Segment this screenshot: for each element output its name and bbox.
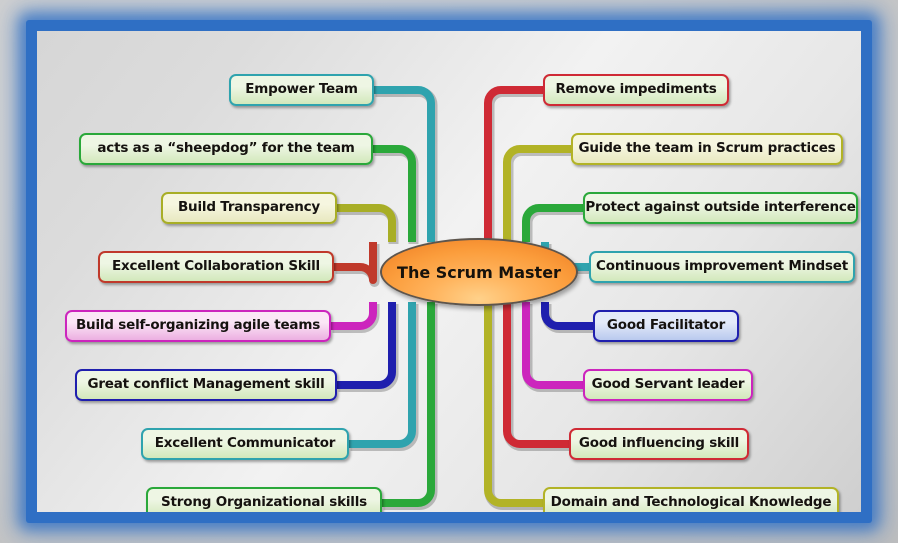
node-label: Excellent Collaboration Skill xyxy=(112,260,320,274)
node-label: Continuous improvement Mindset xyxy=(596,260,848,274)
connector-right-0 xyxy=(488,90,543,242)
node-label: Strong Organizational skills xyxy=(161,496,367,510)
node-label: acts as a “sheepdog” for the team xyxy=(97,142,354,156)
connector-shadow-right-7 xyxy=(490,304,545,505)
connector-shadow-right-2 xyxy=(528,210,585,244)
connector-right-5 xyxy=(526,302,583,385)
connector-left-4 xyxy=(331,302,373,326)
center-node-label: The Scrum Master xyxy=(397,263,561,282)
connector-shadow-right-1 xyxy=(509,151,573,244)
connector-shadow-right-0 xyxy=(490,92,545,244)
connector-right-7 xyxy=(488,302,543,503)
node-label: Guide the team in Scrum practices xyxy=(578,142,835,156)
connector-left-0 xyxy=(374,90,431,242)
node-right-1[interactable]: Guide the team in Scrum practices xyxy=(571,133,843,165)
node-right-0[interactable]: Remove impediments xyxy=(543,74,729,106)
node-right-3[interactable]: Continuous improvement Mindset xyxy=(589,251,855,283)
node-left-5[interactable]: Great conflict Management skill xyxy=(75,369,337,401)
node-right-4[interactable]: Good Facilitator xyxy=(593,310,739,342)
node-label: Build Transparency xyxy=(178,201,320,215)
mindmap-canvas: Empower Teamacts as a “sheepdog” for the… xyxy=(37,31,861,512)
node-label: Protect against outside interference xyxy=(585,201,855,215)
node-right-6[interactable]: Good influencing skill xyxy=(569,428,749,460)
node-right-2[interactable]: Protect against outside interference xyxy=(583,192,858,224)
node-label: Domain and Technological Knowledge xyxy=(551,496,832,510)
node-left-6[interactable]: Excellent Communicator xyxy=(141,428,349,460)
node-left-4[interactable]: Build self-organizing agile teams xyxy=(65,310,331,342)
connector-right-1 xyxy=(507,149,571,242)
node-label: Excellent Communicator xyxy=(155,437,336,451)
connector-shadow-left-0 xyxy=(376,92,433,244)
node-left-7[interactable]: Strong Organizational skills xyxy=(146,487,382,512)
center-node-scrum-master[interactable]: The Scrum Master xyxy=(380,238,578,306)
node-label: Build self-organizing agile teams xyxy=(76,319,320,333)
node-label: Great conflict Management skill xyxy=(87,378,324,392)
node-label: Remove impediments xyxy=(555,83,716,97)
connector-shadow-left-5 xyxy=(339,304,394,387)
node-left-2[interactable]: Build Transparency xyxy=(161,192,337,224)
connector-right-4 xyxy=(545,302,593,326)
node-label: Good Servant leader xyxy=(592,378,745,392)
node-label: Good Facilitator xyxy=(607,319,725,333)
node-right-5[interactable]: Good Servant leader xyxy=(583,369,753,401)
node-label: Empower Team xyxy=(245,83,358,97)
node-left-0[interactable]: Empower Team xyxy=(229,74,374,106)
outer-frame: Empower Teamacts as a “sheepdog” for the… xyxy=(0,0,898,543)
connector-shadow-left-2 xyxy=(339,210,394,244)
node-right-7[interactable]: Domain and Technological Knowledge xyxy=(543,487,839,512)
node-label: Good influencing skill xyxy=(579,437,739,451)
connector-left-3 xyxy=(334,242,373,280)
connector-shadow-right-5 xyxy=(528,304,585,387)
node-left-1[interactable]: acts as a “sheepdog” for the team xyxy=(79,133,373,165)
node-left-3[interactable]: Excellent Collaboration Skill xyxy=(98,251,334,283)
connector-left-5 xyxy=(337,302,392,385)
